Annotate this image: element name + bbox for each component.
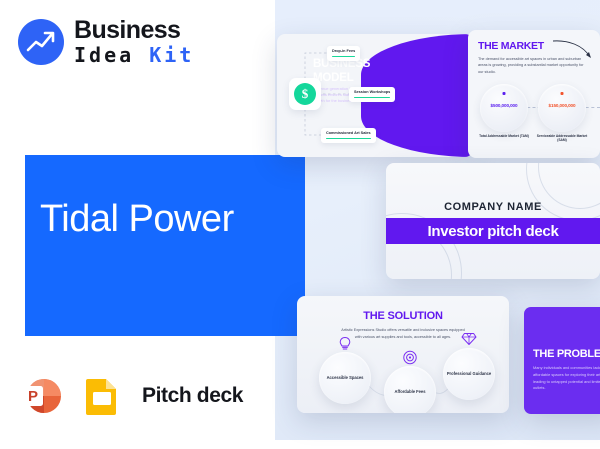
slide-card-solution[interactable]: THE SOLUTION Artistic Expressions Studio… — [297, 296, 509, 413]
trend-arrow-icon — [18, 19, 64, 65]
market-metric-2-value: $150,000,000 — [538, 103, 586, 108]
solution-node-2: Affordable Fees — [384, 366, 436, 413]
business-model-item-1: Drop-in Fees — [327, 46, 360, 61]
market-metric-1-value: $500,000,000 — [480, 103, 528, 108]
diamond-icon — [461, 332, 477, 346]
slide-card-market[interactable]: THE MARKET The demand for accessible art… — [468, 30, 600, 158]
problem-title: THE PROBLEM — [533, 348, 600, 360]
solution-node-3: Professional Guidance — [443, 348, 495, 400]
hero-blue-block — [25, 155, 305, 336]
powerpoint-icon: P — [18, 372, 66, 420]
solution-node-2-label: Affordable Fees — [395, 389, 426, 395]
business-model-item-3: Commissioned Art Sales — [321, 128, 376, 143]
solution-node-2-circle: Affordable Fees — [384, 366, 436, 413]
slide-card-problem[interactable]: THE PROBLEM Many individuals and communi… — [524, 307, 600, 414]
dollar-icon: $ — [289, 78, 321, 110]
market-metric-1: $500,000,000 Total Addressable Market (T… — [480, 84, 528, 132]
brand-idea: Idea — [74, 43, 134, 67]
business-model-item-3-label: Commissioned Art Sales — [326, 131, 371, 135]
google-slides-icon — [78, 372, 126, 420]
brand-wordmark: Business Idea Kit — [74, 18, 194, 65]
svg-text:P: P — [28, 388, 38, 405]
lightbulb-icon — [338, 336, 352, 352]
market-metric-1-label: Total Addressable Market (TAM) — [474, 134, 534, 138]
pitch-company-name: COMPANY NAME — [386, 201, 600, 213]
business-model-item-2-label: Session Workshops — [354, 90, 390, 94]
solution-node-3-circle: Professional Guidance — [443, 348, 495, 400]
hero-title: Tidal Power — [40, 198, 234, 241]
format-label: Pitch deck — [142, 384, 243, 408]
market-metric-2-label: Serviceable Addressable Market (SAM) — [532, 134, 592, 143]
business-model-item-1-label: Drop-in Fees — [332, 49, 355, 53]
brand-logo[interactable]: Business Idea Kit — [18, 18, 194, 65]
market-title: THE MARKET — [478, 40, 544, 52]
solution-node-1: Accessible Spaces — [319, 352, 371, 404]
poster-root: Tidal Power Business Idea Kit BUSINESS M… — [0, 0, 600, 449]
pitch-subtitle: Investor pitch deck — [427, 223, 558, 240]
business-model-title: BUSINESS MODEL — [313, 58, 385, 85]
pitch-subtitle-band: Investor pitch deck — [386, 218, 600, 244]
market-metric-2: $150,000,000 Serviceable Addressable Mar… — [538, 84, 586, 132]
solution-node-1-label: Accessible Spaces — [327, 375, 364, 381]
solution-node-3-label: Professional Guidance — [447, 371, 491, 377]
slide-card-pitch-cover[interactable]: COMPANY NAME Investor pitch deck — [386, 163, 600, 279]
business-model-item-2: Session Workshops — [349, 87, 395, 102]
format-footer: P Pitch deck — [18, 372, 243, 420]
solution-node-1-circle: Accessible Spaces — [319, 352, 371, 404]
slide-card-business-model[interactable]: BUSINESS MODEL Revenue generation throug… — [277, 34, 473, 157]
curved-arrow-icon — [552, 38, 596, 62]
problem-description: Many individuals and communities lack ac… — [533, 365, 600, 392]
target-icon — [403, 350, 418, 365]
brand-line-1: Business — [74, 18, 194, 43]
brand-line-2: Idea Kit — [74, 45, 194, 65]
brand-kit: Kit — [149, 43, 194, 67]
